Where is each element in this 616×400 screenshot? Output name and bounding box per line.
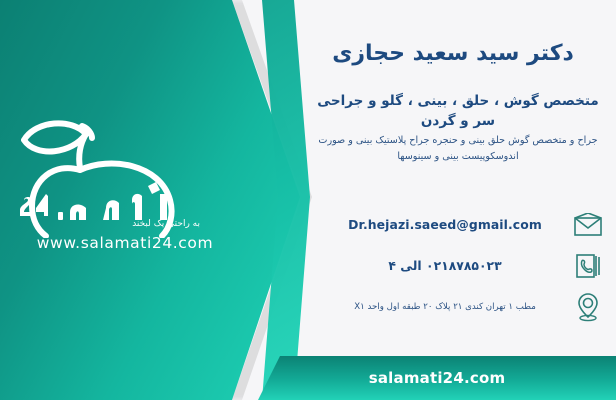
- email-value: Dr.hejazi.saeed@gmail.com: [308, 217, 568, 232]
- doctor-name: دکتر سید سعید حجازی: [308, 40, 598, 69]
- business-card: به راحتی یک لبخند www.salamati24.com دکت…: [0, 0, 616, 400]
- doctor-description: جراح و متخصص گوش حلق بینی و حنجره جراح پ…: [312, 133, 604, 165]
- logo-tagline: به راحتی یک لبخند: [132, 219, 200, 229]
- footer-website[interactable]: salamati24.com: [258, 356, 616, 400]
- location-pin-icon: [568, 289, 608, 325]
- phone-value: ۰۲۱۸۷۸۵۰۲۳ الی ۴: [308, 258, 568, 273]
- contact-row-address[interactable]: مطب ۱ تهران کندی ۲۱ پلاک ۲۰ طبقه اول واح…: [308, 286, 608, 327]
- phone-book-icon: [568, 248, 608, 284]
- card-content: دکتر سید سعید حجازی متخصص گوش ، حلق ، بی…: [300, 0, 616, 400]
- doctor-specialty: متخصص گوش ، حلق ، بینی ، گلو و جراحی سر …: [312, 92, 604, 131]
- contact-row-phone[interactable]: ۰۲۱۸۷۸۵۰۲۳ الی ۴: [308, 245, 608, 286]
- brand-logo: به راحتی یک لبخند www.salamati24.com: [10, 108, 240, 278]
- envelope-icon: [568, 207, 608, 243]
- footer: salamati24.com: [0, 356, 616, 400]
- logo-url-text: www.salamati24.com: [10, 234, 240, 252]
- apple-leaf-logo: به راحتی یک لبخند: [10, 108, 240, 238]
- contact-list: Dr.hejazi.saeed@gmail.com ۰۲۱۸۷۸۵۰۲۳ الی…: [308, 204, 608, 327]
- address-value: مطب ۱ تهران کندی ۲۱ پلاک ۲۰ طبقه اول واح…: [308, 302, 568, 312]
- contact-row-email[interactable]: Dr.hejazi.saeed@gmail.com: [308, 204, 608, 245]
